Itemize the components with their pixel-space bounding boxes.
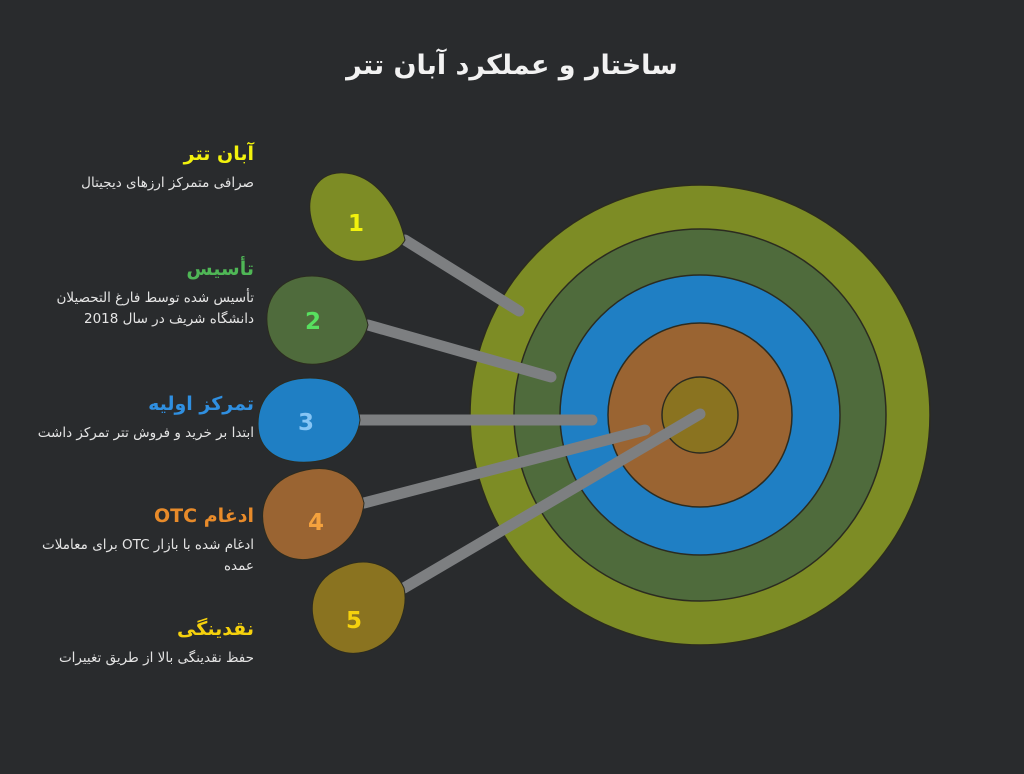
- dart-2-flight[interactable]: [267, 276, 368, 364]
- dart-5-number: 5: [346, 608, 362, 634]
- legend-item-4-heading: ادغام OTC: [24, 505, 254, 528]
- legend-item-4: ادغام OTC ادغام شده با بازار OTC برای مع…: [24, 505, 254, 577]
- legend-item-4-description: ادغام شده با بازار OTC برای معاملات عمده: [24, 535, 254, 577]
- dart-1-flight[interactable]: [310, 173, 405, 262]
- dart-1-number: 1: [348, 211, 364, 237]
- dart-5-flight[interactable]: [312, 562, 405, 653]
- legend-item-5-description: حفظ نقدینگی بالا از طریق تغییرات: [24, 648, 254, 669]
- legend-item-3-heading: تمرکز اولیه: [24, 393, 254, 416]
- dart-3-number: 3: [298, 410, 314, 436]
- dart-4-flight[interactable]: [263, 469, 364, 560]
- legend-item-3-description: ابتدا بر خرید و فروش تتر تمرکز داشت: [24, 423, 254, 444]
- legend-item-1-description: صرافی متمرکز ارزهای دیجیتال: [24, 173, 254, 194]
- target-ring-bullseye[interactable]: [662, 377, 738, 453]
- legend-item-2: تأسیس تأسیس شده توسط فارغ التحصیلان دانش…: [24, 258, 254, 330]
- legend-item-1-heading: آبان تتر: [24, 143, 254, 166]
- page-title: ساختار و عملکرد آبان تتر: [0, 50, 1024, 81]
- legend-item-5-heading: نقدینگی: [24, 618, 254, 641]
- dart-2-number: 2: [305, 309, 321, 335]
- dart-3-flight[interactable]: [258, 378, 360, 462]
- legend-item-2-heading: تأسیس: [24, 258, 254, 281]
- legend-item-1: آبان تتر صرافی متمرکز ارزهای دیجیتال: [24, 143, 254, 194]
- legend-item-3: تمرکز اولیه ابتدا بر خرید و فروش تتر تمر…: [24, 393, 254, 444]
- dart-1[interactable]: 1: [310, 173, 519, 311]
- infographic-canvas: ساختار و عملکرد آبان تتر 1 2 3: [0, 0, 1024, 774]
- legend-item-2-description: تأسیس شده توسط فارغ التحصیلان دانشگاه شر…: [24, 288, 254, 330]
- legend-item-5: نقدینگی حفظ نقدینگی بالا از طریق تغییرات: [24, 618, 254, 669]
- dart-4-number: 4: [308, 510, 324, 536]
